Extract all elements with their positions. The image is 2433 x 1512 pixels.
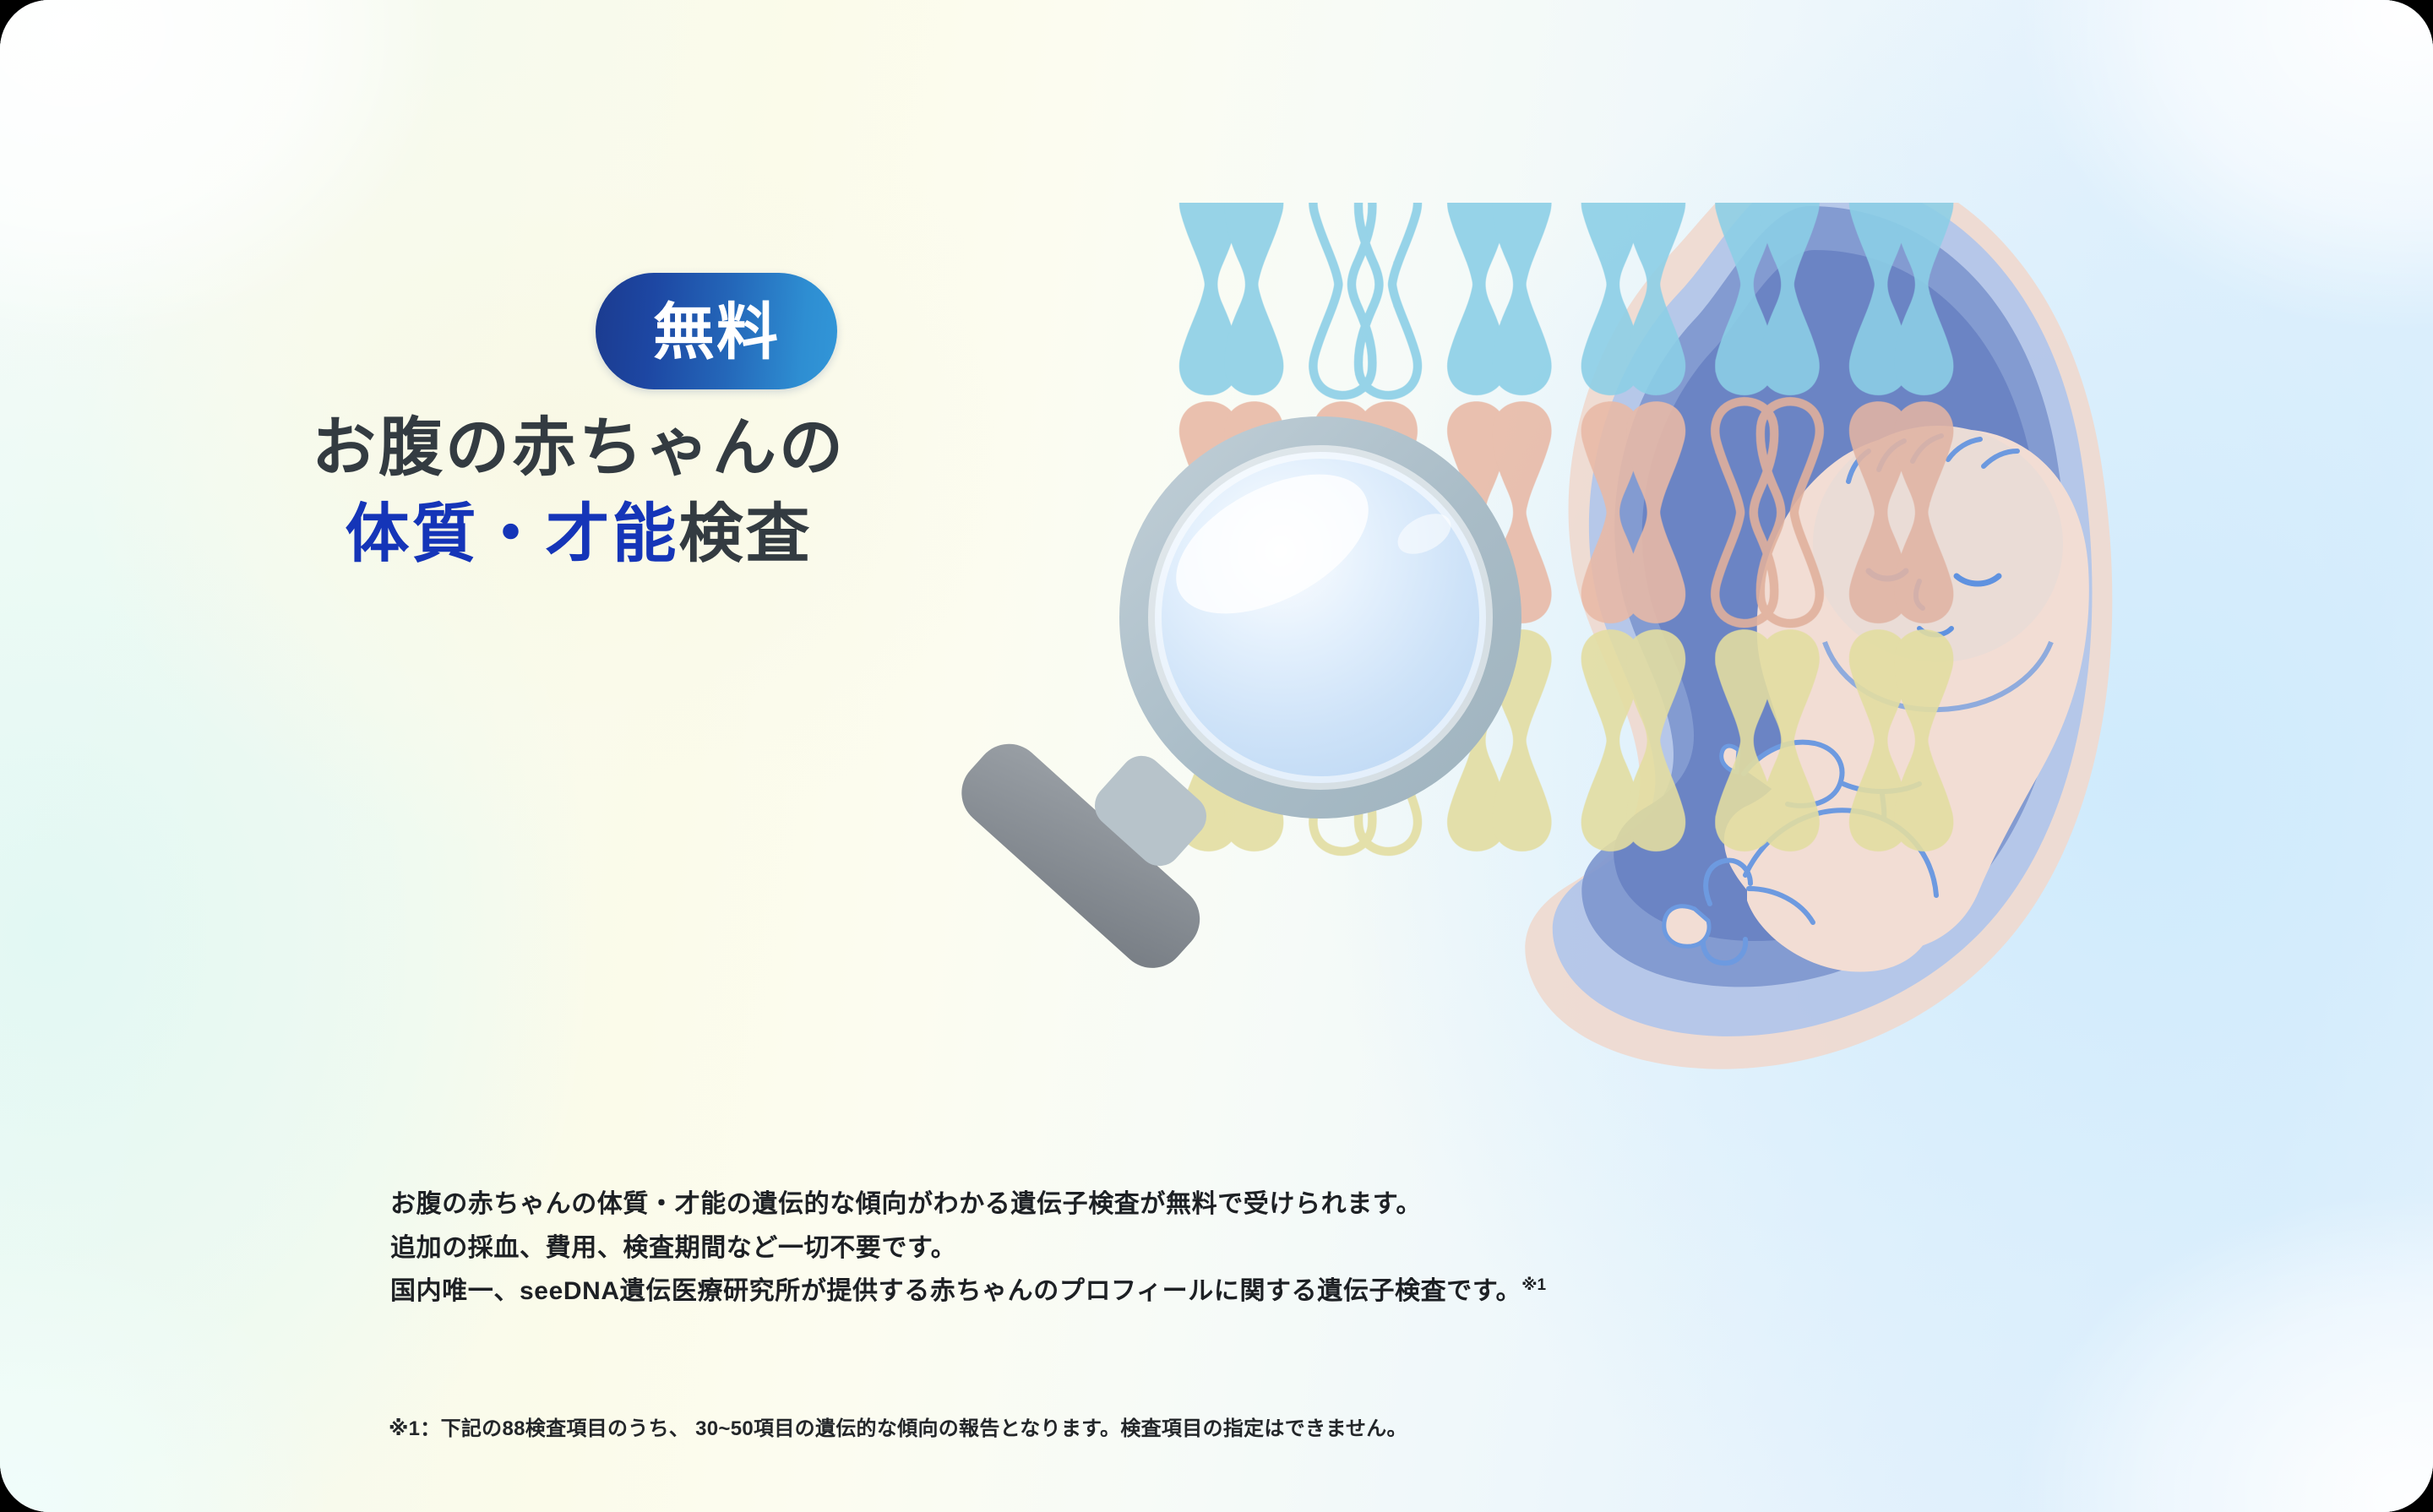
headline-line-2: 体質・才能検査 [0, 492, 1157, 578]
description-line-1: お腹の赤ちゃんの体質・才能の遺伝的な傾向がわかる遺伝子検査が無料で受けられます。 [390, 1183, 1546, 1226]
description-block: お腹の赤ちゃんの体質・才能の遺伝的な傾向がわかる遺伝子検査が無料で受けられます。… [390, 1183, 1546, 1313]
page-title: お腹の赤ちゃんの 体質・才能検査 [0, 405, 1157, 578]
free-badge: 無料 [596, 273, 837, 389]
footnote-text: ※1：下記の88検査項目のうち、 30~50項目の遺伝的な傾向の報告となります。… [389, 1411, 1407, 1441]
description-line-2: 追加の採血、費用、検査期間など一切不要です。 [390, 1226, 1546, 1270]
headline-rest: 検査 [679, 498, 813, 570]
description-line-3-text: 国内唯一、seeDNA遺伝医療研究所が提供する赤ちゃんのプロフィールに関する遺伝… [390, 1277, 1521, 1305]
description-line-3: 国内唯一、seeDNA遺伝医療研究所が提供する赤ちゃんのプロフィールに関する遺伝… [390, 1270, 1546, 1313]
free-badge-label: 無料 [653, 302, 780, 363]
headline-accent: 体質・才能 [346, 498, 679, 570]
promo-card: 無料 お腹の赤ちゃんの 体質・才能検査 お腹の赤ちゃんの体質・才能の遺伝的な傾向… [0, 0, 2433, 1512]
headline-line-1: お腹の赤ちゃんの [0, 405, 1157, 492]
fetus-chromosome-magnifier-illustration [946, 203, 2196, 1115]
footnote-marker: ※1 [1521, 1276, 1546, 1294]
